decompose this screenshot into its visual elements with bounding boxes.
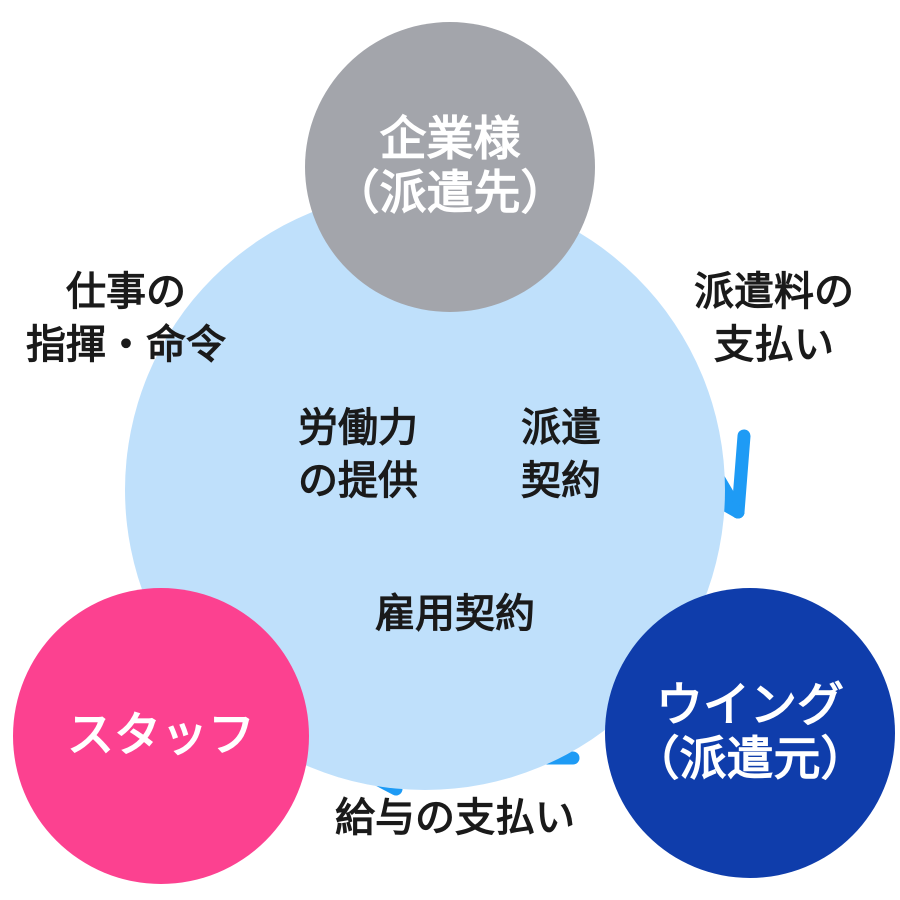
label-work-direction-line2: 指揮・命令	[0, 319, 252, 372]
label-dispatch-fee-line1: 派遣料の	[648, 266, 900, 319]
node-company-line1: 企業様	[380, 113, 521, 167]
label-work-direction-line1: 仕事の	[0, 266, 252, 319]
label-salary-payment: 給与の支払い	[300, 792, 610, 845]
node-staff[interactable]: スタッフ	[13, 588, 309, 884]
node-agency-line1: ウイング	[656, 679, 844, 733]
label-dispatch-fee: 派遣料の 支払い	[648, 266, 900, 372]
label-dispatch-fee-line2: 支払い	[648, 319, 900, 372]
dispatch-relationship-diagram: 企業様 （派遣先） スタッフ ウイング （派遣元） 仕事の 指揮・命令 派遣料の…	[0, 0, 900, 900]
label-dispatch-contract-line1: 派遣	[496, 402, 626, 455]
label-dispatch-contract-line2: 契約	[496, 455, 626, 508]
node-company-line2: （派遣先）	[333, 167, 568, 221]
label-employment-contract: 雇用契約	[300, 588, 610, 641]
node-company[interactable]: 企業様 （派遣先）	[305, 22, 595, 312]
label-employment-contract-line1: 雇用契約	[300, 588, 610, 641]
label-labor-supply-line1: 労働力	[272, 402, 444, 455]
node-agency-line2: （派遣元）	[633, 733, 868, 787]
label-work-direction: 仕事の 指揮・命令	[0, 266, 252, 372]
label-labor-supply-line2: の提供	[272, 455, 444, 508]
label-labor-supply: 労働力 の提供	[272, 402, 444, 508]
label-salary-payment-line1: 給与の支払い	[300, 792, 610, 845]
node-staff-line1: スタッフ	[67, 709, 255, 763]
label-dispatch-contract: 派遣 契約	[496, 402, 626, 508]
node-agency[interactable]: ウイング （派遣元）	[605, 588, 895, 878]
